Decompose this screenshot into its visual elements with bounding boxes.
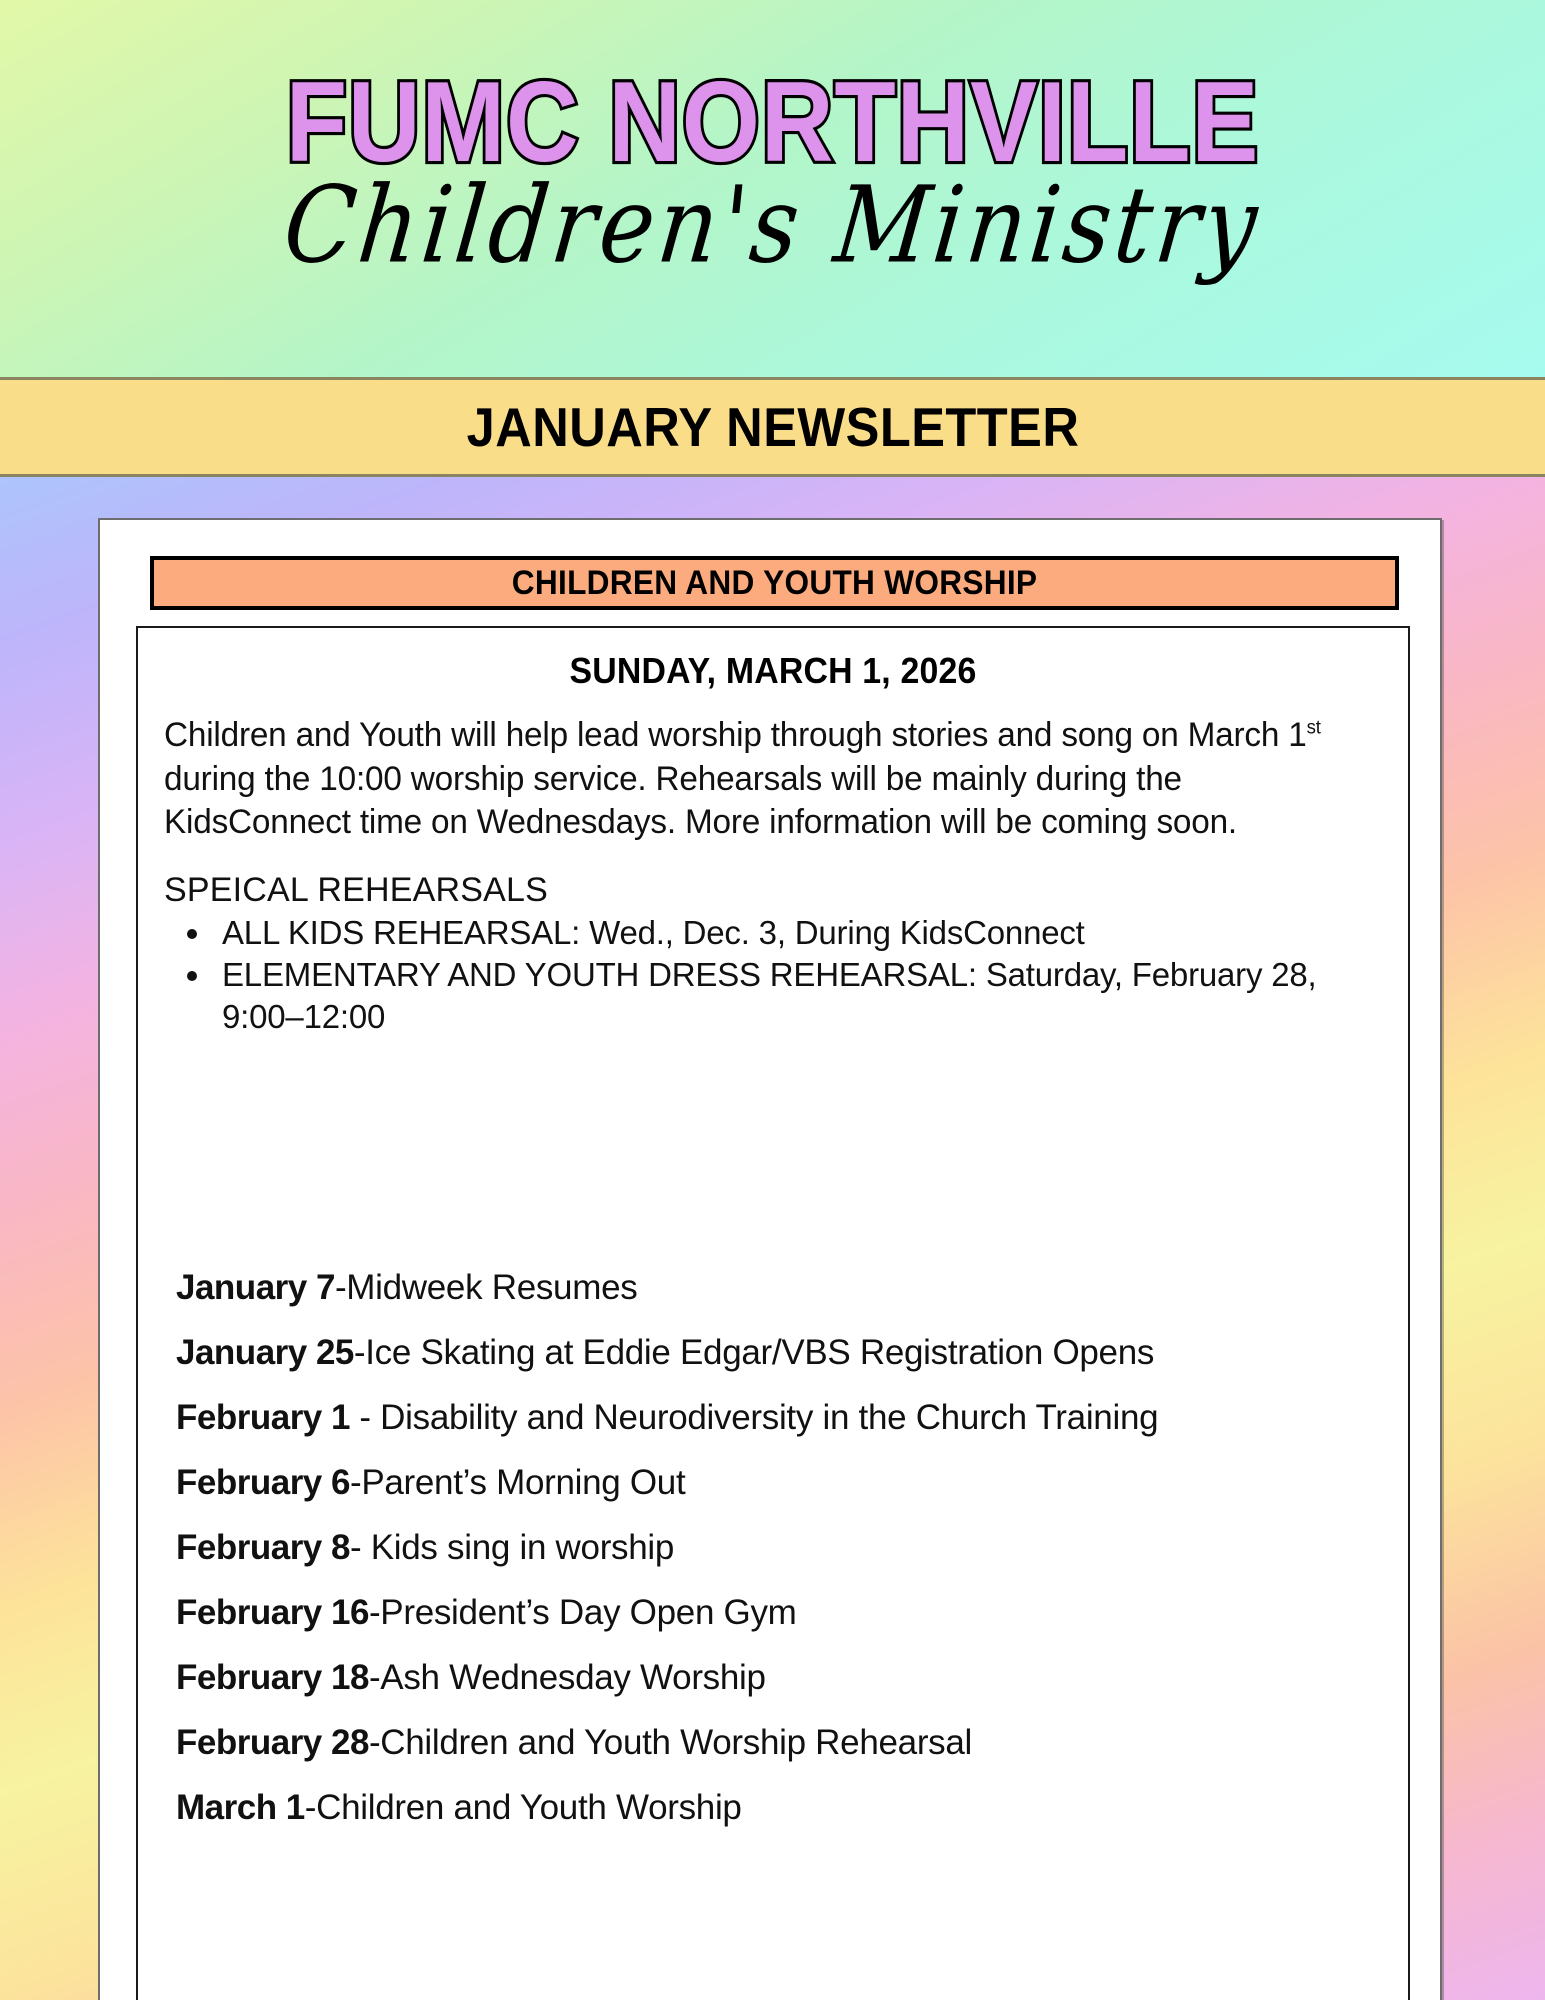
event-date: February 16: [176, 1593, 369, 1632]
event-date: February 1: [176, 1398, 350, 1437]
event-description: -Parent’s Morning Out: [350, 1463, 685, 1502]
worship-section-header-label: CHILDREN AND YOUTH WORSHIP: [512, 564, 1037, 603]
event-date: February 6: [176, 1463, 350, 1502]
event-item: February 8- Kids sing in worship: [176, 1528, 1408, 1568]
event-description: -Ash Wednesday Worship: [369, 1658, 766, 1697]
event-item: February 1 - Disability and Neurodiversi…: [176, 1398, 1408, 1438]
rehearsal-heading: SPEICAL REHEARSALS: [164, 871, 1408, 910]
church-title: FUMC NORTHVILLE: [54, 65, 1491, 179]
event-date: February 18: [176, 1658, 369, 1697]
event-item: February 6-Parent’s Morning Out: [176, 1463, 1408, 1503]
newsletter-band: JANUARY NEWSLETTER: [0, 380, 1545, 477]
event-description: - Kids sing in worship: [350, 1528, 674, 1567]
worship-block: SUNDAY, MARCH 1, 2026 Children and Youth…: [138, 628, 1408, 1038]
ministry-subtitle: Children's Ministry: [0, 167, 1545, 283]
masthead-banner: FUMC NORTHVILLE Children's Ministry: [0, 0, 1545, 380]
event-description: - Disability and Neurodiversity in the C…: [350, 1398, 1158, 1437]
event-item: January 7-Midweek Resumes: [176, 1268, 1408, 1308]
rehearsal-item: ELEMENTARY AND YOUTH DRESS REHEARSAL: Sa…: [214, 954, 1368, 1038]
event-date: February 8: [176, 1528, 350, 1567]
event-description: -President’s Day Open Gym: [369, 1593, 797, 1632]
worship-paragraph-part1: Children and Youth will help lead worshi…: [164, 716, 1307, 754]
event-item: January 25-Ice Skating at Eddie Edgar/VB…: [176, 1333, 1408, 1373]
event-date: February 28: [176, 1723, 369, 1762]
newsletter-page: FUMC NORTHVILLE Children's Ministry JANU…: [0, 0, 1545, 2000]
event-date: January 7: [176, 1268, 335, 1307]
event-item: February 18-Ash Wednesday Worship: [176, 1658, 1408, 1698]
newsletter-month-label: JANUARY NEWSLETTER: [466, 395, 1079, 459]
content-card: CHILDREN AND YOUTH WORSHIP UPCOMING EVEN…: [98, 518, 1442, 2000]
worship-paragraph: Children and Youth will help lead worshi…: [164, 714, 1354, 845]
event-description: -Children and Youth Worship: [305, 1788, 742, 1827]
event-description: -Children and Youth Worship Rehearsal: [369, 1723, 972, 1762]
worship-date: SUNDAY, MARCH 1, 2026: [176, 650, 1370, 692]
event-date: March 1: [176, 1788, 305, 1827]
ordinal-suffix: st: [1307, 718, 1321, 739]
worship-paragraph-part2: during the 10:00 worship service. Rehear…: [164, 760, 1237, 842]
events-list: January 7-Midweek Resumes January 25-Ice…: [138, 1268, 1408, 1853]
inner-content-box: SUNDAY, MARCH 1, 2026 Children and Youth…: [136, 626, 1410, 2000]
event-item: March 1-Children and Youth Worship: [176, 1788, 1408, 1828]
event-description: -Midweek Resumes: [335, 1268, 638, 1307]
worship-section-header: CHILDREN AND YOUTH WORSHIP: [150, 556, 1399, 610]
event-item: February 28-Children and Youth Worship R…: [176, 1723, 1408, 1763]
rehearsal-item: ALL KIDS REHEARSAL: Wed., Dec. 3, During…: [214, 912, 1368, 954]
rehearsal-list: ALL KIDS REHEARSAL: Wed., Dec. 3, During…: [214, 912, 1408, 1039]
event-date: January 25: [176, 1333, 354, 1372]
event-description: -Ice Skating at Eddie Edgar/VBS Registra…: [354, 1333, 1154, 1372]
event-item: February 16-President’s Day Open Gym: [176, 1593, 1408, 1633]
